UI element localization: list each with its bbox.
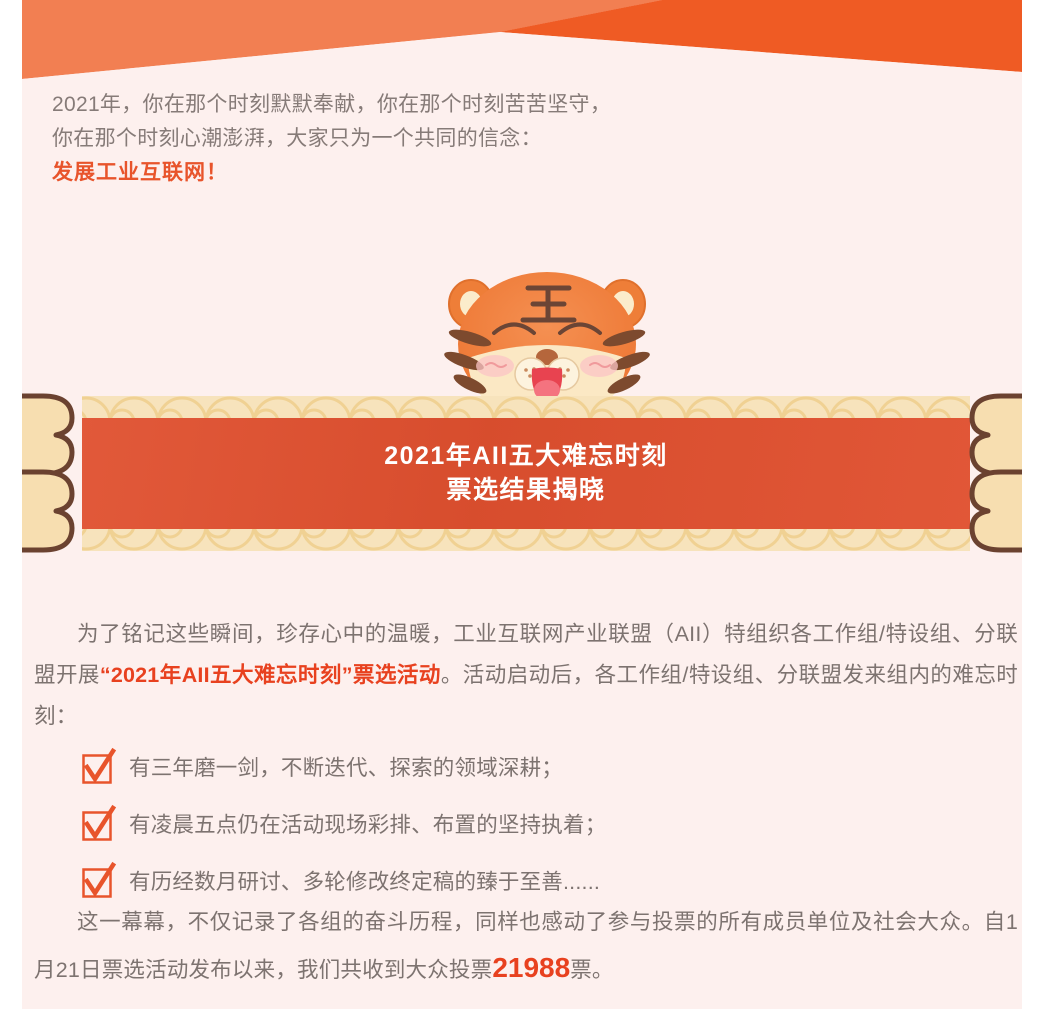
intro-text-block: 2021年，你在那个时刻默默奉献，你在那个时刻苦苦坚守， 你在那个时刻心潮澎湃，…	[52, 88, 982, 190]
list-item-label: 有三年磨一剑，不断迭代、探索的领域深耕；	[129, 756, 563, 782]
body-text-highlight: “2021年AII五大难忘时刻”票选活动	[100, 663, 441, 687]
closing-text-part-2: 票。	[570, 958, 613, 982]
closing-paragraph: 这一幕幕，不仅记录了各组的奋斗历程，同样也感动了参与投票的所有成员单位及社会大众…	[34, 900, 1018, 993]
ribbon-body: 2021年AII五大难忘时刻 票选结果揭晓	[82, 396, 970, 551]
ribbon-title-line-2: 票选结果揭晓	[446, 477, 605, 505]
list-item: 有凌晨五点仍在活动现场彩排、布置的坚持执着；	[82, 802, 982, 850]
hero-banner	[22, 0, 1022, 82]
moments-checklist: 有三年磨一剑，不断迭代、探索的领域深耕； 有凌晨五点仍在活动现场彩排、布置的坚持…	[82, 745, 982, 916]
ribbon-title-line-1: 2021年AII五大难忘时刻	[384, 443, 668, 471]
intro-line-1: 2021年，你在那个时刻默默奉献，你在那个时刻苦苦坚守，	[52, 88, 982, 122]
checkbox-checked-icon[interactable]	[82, 868, 112, 898]
hero-banner-shapes	[22, 0, 1022, 82]
vote-count-value: 21988	[492, 952, 570, 983]
list-item-label: 有历经数月研讨、多轮修改终定稿的臻于至善......	[129, 870, 600, 896]
list-item-label: 有凌晨五点仍在活动现场彩排、布置的坚持执着；	[129, 813, 606, 839]
ribbon-edge-bottom	[82, 529, 970, 551]
body-paragraph-1: 为了铭记这些瞬间，珍存心中的温暖，工业互联网产业联盟（AII）特组织各工作组/特…	[34, 614, 1018, 737]
tiger-blush-right-icon	[580, 355, 618, 377]
ribbon-edge-top	[82, 396, 970, 418]
article-page: 2021年，你在那个时刻默默奉献，你在那个时刻苦苦坚守， 你在那个时刻心潮澎湃，…	[0, 0, 1047, 1009]
ribbon-banner: 2021年AII五大难忘时刻 票选结果揭晓	[22, 378, 1022, 568]
intro-slogan: 发展工业互联网！	[52, 156, 982, 190]
intro-line-2: 你在那个时刻心潮澎湃，大家只为一个共同的信念：	[52, 122, 982, 156]
closing-paragraph-block: 这一幕幕，不仅记录了各组的奋斗历程，同样也感动了参与投票的所有成员单位及社会大众…	[34, 900, 1018, 993]
list-item: 有三年磨一剑，不断迭代、探索的领域深耕；	[82, 745, 982, 793]
checkbox-checked-icon[interactable]	[82, 754, 112, 784]
article-canvas: 2021年，你在那个时刻默默奉献，你在那个时刻苦苦坚守， 你在那个时刻心潮澎湃，…	[22, 0, 1022, 1009]
ribbon-title-block: 2021年AII五大难忘时刻 票选结果揭晓	[82, 418, 970, 529]
tiger-blush-left-icon	[476, 355, 514, 377]
body-paragraph-block: 为了铭记这些瞬间，珍存心中的温暖，工业互联网产业联盟（AII）特组织各工作组/特…	[34, 614, 1018, 737]
ruyi-cloud-scroll-end-left-icon	[22, 388, 84, 558]
checkbox-checked-icon[interactable]	[82, 811, 112, 841]
ruyi-cloud-scroll-end-right-icon	[960, 388, 1022, 558]
